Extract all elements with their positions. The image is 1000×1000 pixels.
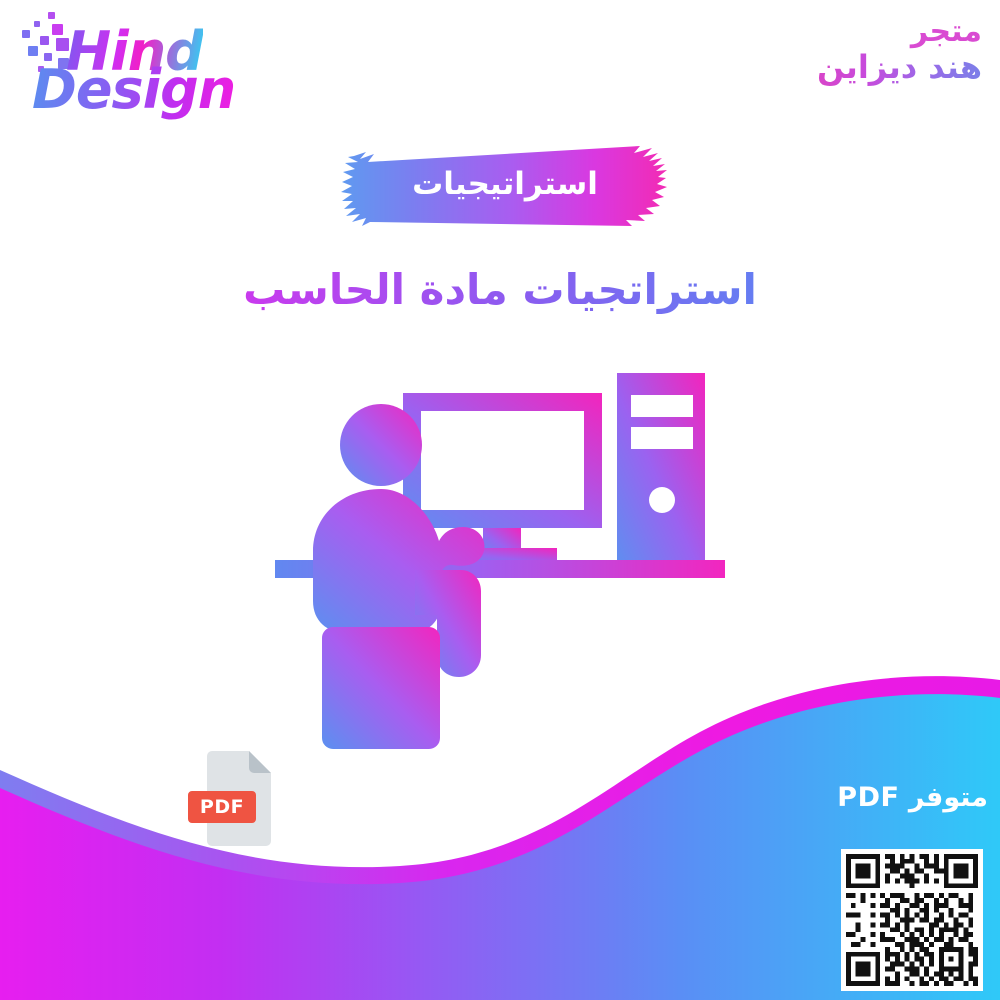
brand-logo[interactable]: Hind Design [14, 8, 314, 118]
logo-pixel-square [48, 12, 55, 19]
qr-code-image [841, 849, 983, 991]
page-title: استراتجيات مادة الحاسب [0, 265, 1000, 314]
poster-canvas: Hind Design متجر هند ديزاين استراتيجيات … [0, 0, 1000, 1000]
category-banner-label: استراتيجيات [340, 140, 670, 232]
logo-pixel-square [52, 24, 63, 35]
store-name-block: متجر هند ديزاين [817, 14, 982, 87]
person-at-computer-icon [265, 365, 735, 765]
logo-pixel-square [22, 30, 30, 38]
logo-pixel-square [28, 46, 38, 56]
logo-pixel-square [40, 36, 49, 45]
pdf-availability-label: متوفر PDF [837, 782, 988, 813]
qr-code[interactable] [841, 849, 983, 991]
hero-illustration [265, 365, 735, 765]
pdf-format-badge: PDF [188, 791, 256, 823]
store-name-prefix: متجر [817, 14, 982, 49]
category-banner: استراتيجيات [340, 140, 670, 232]
store-name-main: هند ديزاين [817, 49, 982, 87]
logo-pixel-square [34, 21, 40, 27]
logo-text-design: Design [32, 58, 235, 121]
pdf-document-icon: PDF [203, 751, 273, 846]
